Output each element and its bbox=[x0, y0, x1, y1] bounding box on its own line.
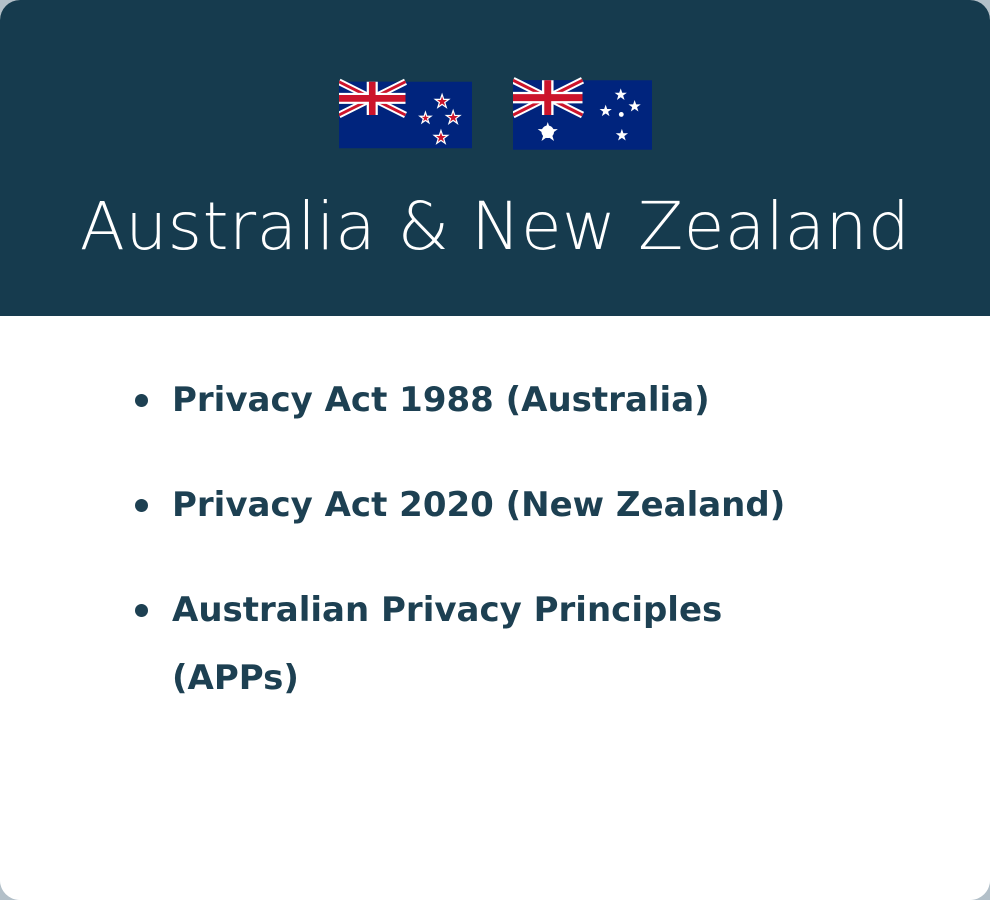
list-item-label: Privacy Act 1988 (Australia) bbox=[172, 380, 710, 420]
list-item: Australian Privacy Principles (APPs) bbox=[135, 576, 812, 712]
privacy-law-list: Privacy Act 1988 (Australia) Privacy Act… bbox=[135, 366, 920, 712]
list-item: Privacy Act 2020 (New Zealand) bbox=[135, 471, 812, 539]
flag-row bbox=[0, 72, 990, 158]
list-item-label: Privacy Act 2020 (New Zealand) bbox=[172, 485, 785, 525]
new-zealand-flag-icon bbox=[339, 72, 472, 158]
card-header: Australia & New Zealand bbox=[0, 0, 990, 316]
bullet-dot-icon bbox=[135, 499, 148, 512]
bullet-dot-icon bbox=[135, 604, 148, 617]
bullet-dot-icon bbox=[135, 394, 148, 407]
list-item: Privacy Act 1988 (Australia) bbox=[135, 366, 812, 434]
page-title: Australia & New Zealand bbox=[0, 186, 990, 268]
australia-flag-icon bbox=[513, 72, 652, 158]
card-body: Privacy Act 1988 (Australia) Privacy Act… bbox=[0, 316, 990, 900]
list-item-label: Australian Privacy Principles (APPs) bbox=[172, 590, 722, 698]
australia-new-zealand-card: Australia & New Zealand Privacy Act 1988… bbox=[0, 0, 990, 900]
